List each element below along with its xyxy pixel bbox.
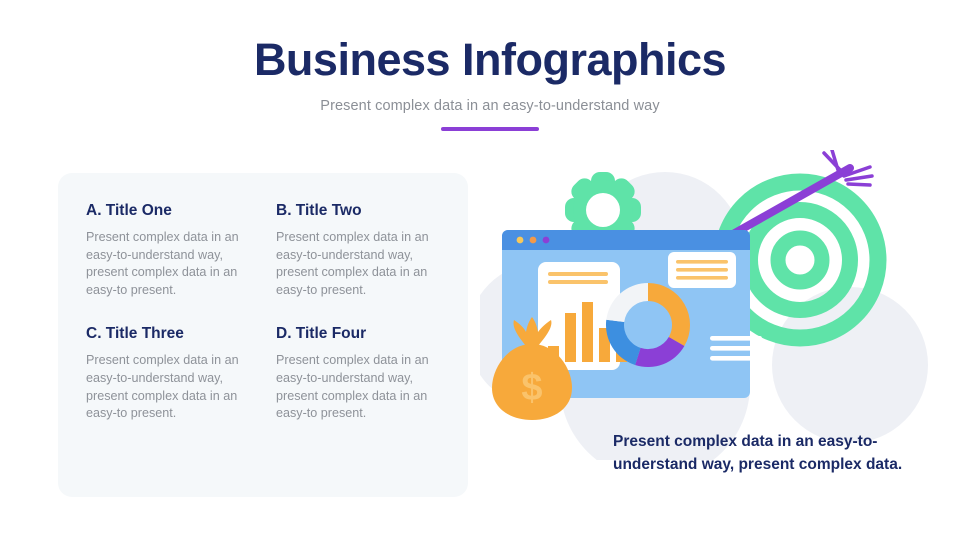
block-body-a: Present complex data in an easy-to-under… (86, 229, 261, 299)
page-subtitle: Present complex data in an easy-to-under… (0, 98, 980, 114)
text-block-b[interactable]: B. Title Two Present complex data in an … (276, 202, 451, 299)
text-block-grid: A. Title One Present complex data in an … (86, 202, 472, 423)
page-title: Business Infographics (0, 36, 980, 85)
text-lines-card[interactable] (668, 252, 736, 288)
text-block-a[interactable]: A. Title One Present complex data in an … (86, 202, 261, 299)
block-body-d: Present complex data in an easy-to-under… (276, 352, 451, 422)
title-divider (441, 127, 539, 131)
svg-text:$: $ (521, 367, 542, 409)
business-dashboard-illustration: $ (480, 150, 980, 460)
block-title-b: B. Title Two (276, 202, 451, 220)
block-title-d: D. Title Four (276, 325, 451, 343)
slide-canvas: Business Infographics Present complex da… (0, 0, 980, 551)
window-dot-orange (530, 237, 537, 244)
block-body-c: Present complex data in an easy-to-under… (86, 352, 261, 422)
text-lines (710, 336, 762, 361)
illustration-caption: Present complex data in an easy-to-under… (613, 431, 913, 476)
block-title-a: A. Title One (86, 202, 261, 220)
window-dot-yellow (517, 237, 524, 244)
header: Business Infographics Present complex da… (0, 36, 980, 131)
block-title-c: C. Title Three (86, 325, 261, 343)
text-block-d[interactable]: D. Title Four Present complex data in an… (276, 325, 451, 422)
text-block-c[interactable]: C. Title Three Present complex data in a… (86, 325, 261, 422)
window-dot-purple (543, 237, 550, 244)
block-body-b: Present complex data in an easy-to-under… (276, 229, 451, 299)
